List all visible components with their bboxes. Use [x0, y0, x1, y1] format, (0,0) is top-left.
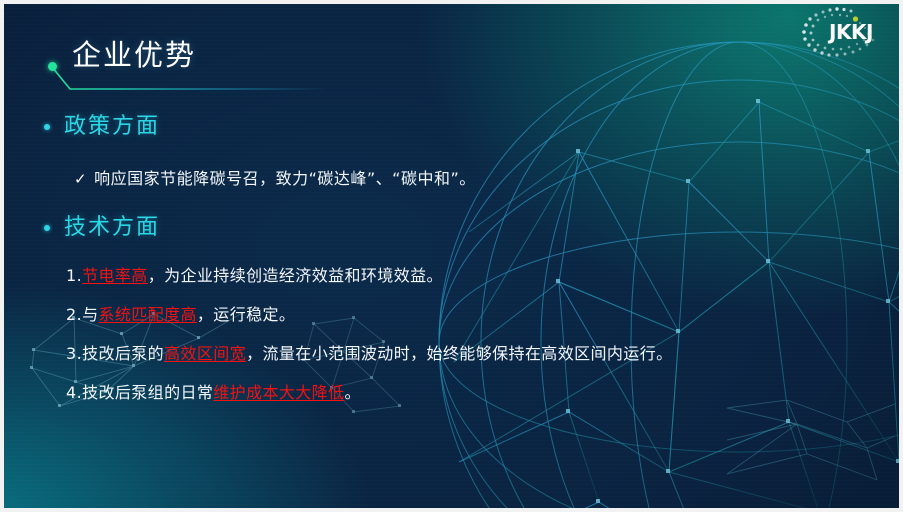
list-item: 2.与系统匹配度高，运行稳定。 [66, 305, 896, 325]
item-highlight: 系统匹配度高 [98, 305, 196, 324]
technology-numbered-list: 1.节电率高，为企业持续创造经济效益和环境效益。 2.与系统匹配度高，运行稳定。… [66, 266, 896, 422]
policy-bullet-text: 响应国家节能降碳号召，致力“碳达峰”、“碳中和”。 [94, 169, 476, 188]
section-title-technology: 技术方面 [64, 215, 160, 241]
item-prefix: 技改后泵的 [82, 344, 164, 363]
bullet-dot-icon [44, 225, 50, 231]
section-title-policy: 政策方面 [64, 114, 160, 140]
section-heading-technology: 技术方面 [44, 215, 160, 241]
svg-text:JKKJ: JKKJ [827, 20, 873, 44]
item-prefix: 技改后泵组的日常 [82, 383, 213, 402]
slide-title-block: 企业优势 [48, 38, 468, 92]
item-number: 2. [66, 305, 82, 324]
list-item: 3.技改后泵的高效区间宽，流量在小范围波动时，始终能够保持在高效区间内运行。 [66, 344, 896, 364]
item-suffix: ，为企业持续创造经济效益和环境效益。 [148, 266, 443, 285]
list-item: 4.技改后泵组的日常维护成本大大降低。 [66, 383, 896, 403]
item-highlight: 节电率高 [82, 266, 148, 285]
item-suffix: 。 [344, 383, 360, 402]
policy-bullet-line: ✓响应国家节能降碳号召，致力“碳达峰”、“碳中和”。 [74, 167, 476, 191]
item-number: 4. [66, 383, 82, 402]
item-prefix: 与 [82, 305, 98, 324]
item-highlight: 维护成本大大降低 [213, 383, 344, 402]
item-highlight: 高效区间宽 [164, 344, 246, 363]
bullet-dot-icon [44, 124, 50, 130]
item-number: 3. [66, 344, 82, 363]
section-heading-policy: 政策方面 [44, 114, 160, 140]
item-number: 1. [66, 266, 82, 285]
page-title: 企业优势 [72, 38, 196, 72]
item-suffix: ，流量在小范围波动时，始终能够保持在高效区间内运行。 [246, 344, 672, 363]
item-suffix: ，运行稳定。 [197, 305, 295, 324]
list-item: 1.节电率高，为企业持续创造经济效益和环境效益。 [66, 266, 896, 286]
check-icon: ✓ [74, 170, 87, 188]
presentation-slide: JKKJ 企业优势 政策方面 ✓响应国家节能降碳号召，致力“碳达峰”、“碳中和”… [0, 0, 903, 512]
jkkj-logo: JKKJ [789, 6, 893, 58]
